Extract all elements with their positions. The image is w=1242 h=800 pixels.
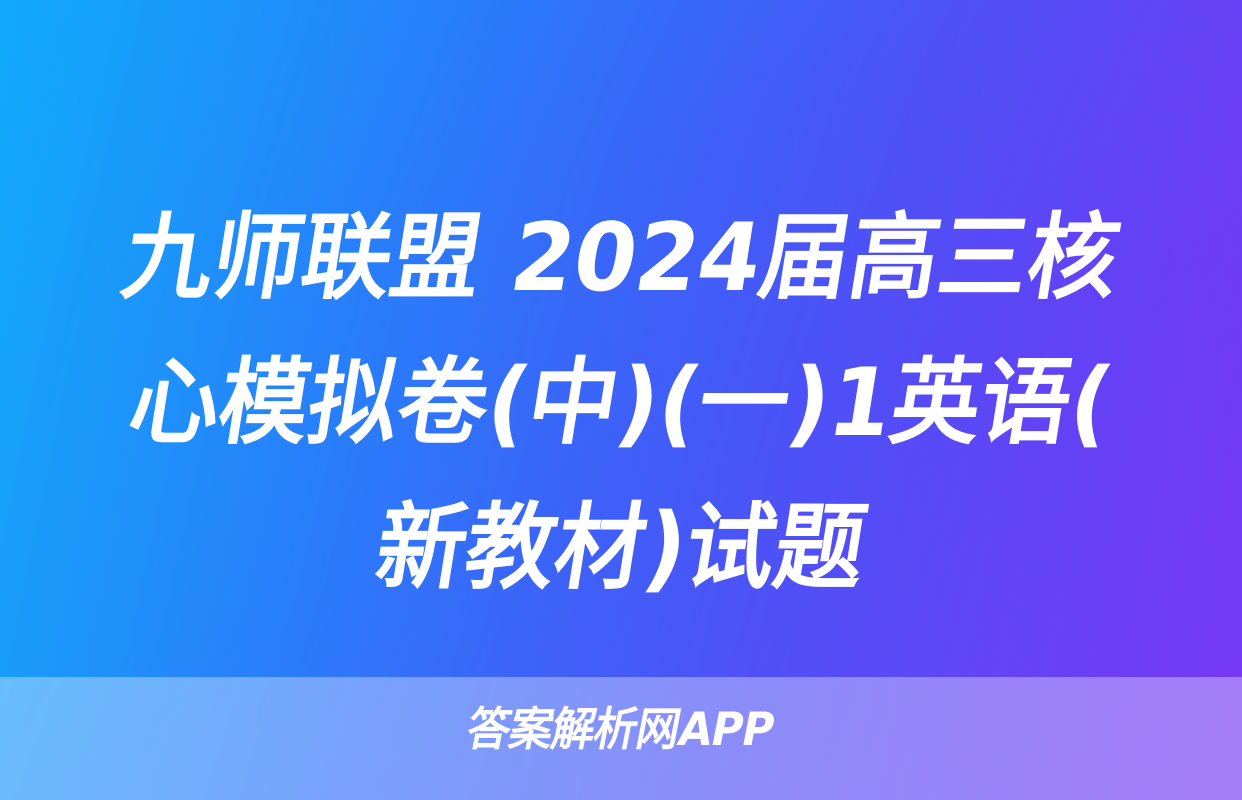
page-title: 九师联盟 2024届高三核 心模拟卷(中)(一)1英语( 新教材)试题	[0, 186, 1242, 621]
watermark-label: 答案解析网APP	[463, 702, 779, 756]
title-line-2: 心模拟卷(中)(一)1英语(	[58, 331, 1185, 476]
title-line-3: 新教材)试题	[58, 476, 1185, 621]
watermark: 答案解析网APP	[0, 702, 1242, 756]
exam-title-card: 九师联盟 2024届高三核 心模拟卷(中)(一)1英语( 新教材)试题 答案解析…	[0, 0, 1242, 800]
title-line-1: 九师联盟 2024届高三核	[58, 186, 1185, 331]
